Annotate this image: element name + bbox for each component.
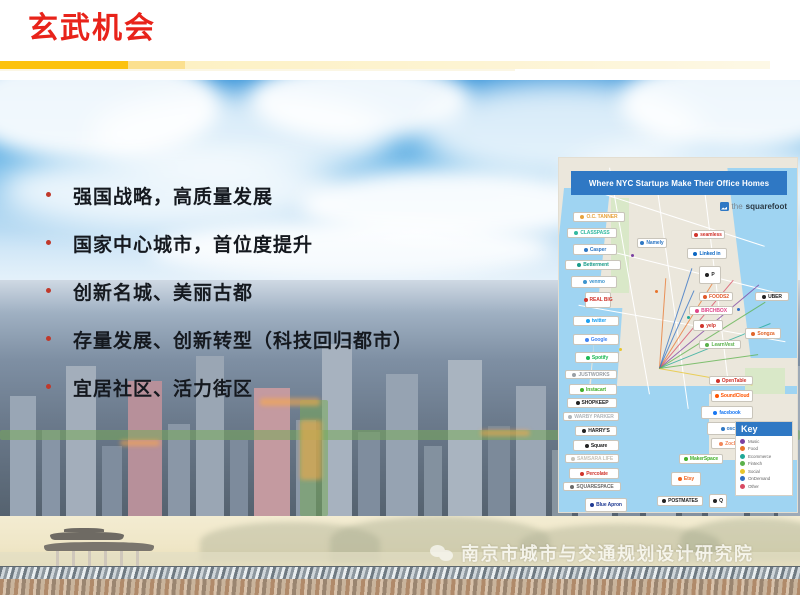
company-logo-label: REAL BIG [590, 297, 613, 303]
company-logo-pin[interactable]: SHOPKEEP [567, 398, 617, 408]
logo-color-swatch-icon [694, 233, 698, 237]
logo-color-swatch-icon [582, 429, 586, 433]
logo-color-swatch-icon [572, 373, 576, 377]
title-underline-bar [0, 61, 770, 69]
company-logo-pin[interactable]: REAL BIG [585, 292, 611, 308]
squarefoot-brand-logo: the squarefoot [720, 202, 787, 211]
list-item: 存量发展、创新转型（科技回归都市） [46, 330, 546, 354]
company-logo-pin[interactable]: Percolate [569, 468, 619, 479]
company-logo-pin[interactable]: UBER [755, 292, 789, 301]
company-logo-label: twitter [592, 318, 606, 324]
company-logo-pin[interactable]: Square [573, 440, 619, 451]
legend-item-label: Social [748, 469, 760, 474]
company-logo-label: SoundCloud [721, 393, 750, 399]
ground-band [0, 579, 800, 595]
company-logo-label: FOODS2 [709, 294, 729, 300]
logo-color-swatch-icon [684, 457, 688, 461]
logo-color-swatch-icon [574, 231, 578, 235]
legend-item: OnDemand [740, 476, 788, 481]
bullet-dot-icon [46, 384, 51, 389]
company-logo-pin[interactable]: Spotify [575, 352, 619, 363]
company-logo-label: Blue Apron [596, 502, 622, 508]
company-logo-label: O.C. TANNER [586, 214, 617, 220]
company-logo-label: Casper [590, 247, 606, 253]
company-logo-label: SHOPKEEP [582, 400, 609, 406]
logo-color-swatch-icon [584, 248, 588, 252]
bullet-dot-icon [46, 288, 51, 293]
company-logo-label: BIRCHBOX [701, 308, 727, 314]
company-logo-pin[interactable]: HARRY'S [575, 426, 617, 436]
company-logo-pin[interactable]: BIRCHBOX [689, 306, 733, 315]
infographic-banner: Where NYC Startups Make Their Office Hom… [571, 171, 787, 195]
company-logo-label: SQUARESPACE [576, 484, 613, 490]
wechat-icon [430, 544, 454, 562]
legend-item: Food [740, 446, 788, 451]
legend-dot-icon [740, 484, 745, 489]
company-logo-label: Namely [646, 240, 663, 246]
legend-dot-icon [740, 446, 745, 451]
logo-color-swatch-icon [678, 477, 682, 481]
list-item-label: 宜居社区、活力街区 [73, 378, 253, 402]
company-logo-pin[interactable]: MakerSpace [679, 454, 723, 464]
company-logo-pin[interactable]: Songza [745, 328, 781, 339]
company-logo-label: Google [591, 337, 608, 343]
company-logo-pin[interactable]: Linked in [687, 248, 727, 259]
company-logo-pin[interactable]: SQUARESPACE [563, 482, 621, 491]
map-legend-key: Key MusicFoodEcommerceFintechSocialOnDem… [735, 421, 793, 497]
logo-color-swatch-icon [585, 338, 589, 342]
company-logo-label: UBER [768, 294, 782, 300]
company-logo-label: facebook [719, 410, 740, 416]
company-logo-label: Betterment [583, 262, 608, 268]
list-item-label: 存量发展、创新转型（科技回归都市） [73, 330, 413, 354]
legend-item: Ecommerce [740, 454, 788, 459]
logo-color-swatch-icon [586, 319, 590, 323]
legend-dot-icon [740, 439, 745, 444]
company-logo-label: P [711, 272, 714, 278]
logo-color-swatch-icon [662, 499, 666, 503]
logo-color-swatch-icon [695, 309, 699, 313]
company-logo-pin[interactable]: P [699, 266, 721, 284]
company-logo-label: Square [591, 443, 607, 449]
company-logo-label: MakerSpace [690, 456, 718, 462]
company-logo-pin[interactable]: Etsy [671, 472, 701, 486]
company-logo-label: Etsy [684, 476, 694, 482]
legend-item-label: Food [748, 446, 758, 451]
logo-color-swatch-icon [705, 343, 709, 347]
company-logo-label: Instacart [586, 387, 606, 393]
list-item: 创新名城、美丽古都 [46, 282, 546, 306]
logo-color-swatch-icon [640, 241, 644, 245]
company-logo-pin[interactable]: Q [709, 494, 727, 508]
company-logo-pin[interactable]: Instacart [569, 384, 617, 395]
logo-color-swatch-icon [580, 388, 584, 392]
list-item-label: 创新名城、美丽古都 [73, 282, 253, 306]
logo-color-swatch-icon [721, 427, 725, 431]
watermark: 南京市城市与交通规划设计研究院 [430, 540, 754, 566]
nyc-startup-map-infographic[interactable]: Where NYC Startups Make Their Office Hom… [558, 157, 798, 513]
legend-item: Fintech [740, 461, 788, 466]
legend-item: Other [740, 484, 788, 489]
company-logo-pin[interactable]: venmo [571, 276, 617, 288]
brand-name: squarefoot [746, 202, 787, 211]
company-logo-pin[interactable]: CLASSPASS [567, 228, 617, 238]
watermark-label: 南京市城市与交通规划设计研究院 [461, 540, 754, 566]
logo-color-swatch-icon [583, 280, 587, 284]
company-logo-label: Q [719, 498, 723, 504]
logo-color-swatch-icon [584, 298, 588, 302]
legend-item: Social [740, 469, 788, 474]
company-logo-label: SAMSARA LIFE [577, 456, 613, 462]
company-logo-pin[interactable]: OpenTable [709, 376, 753, 385]
legend-dot-icon [740, 461, 745, 466]
logo-color-swatch-icon [751, 332, 755, 336]
infographic-banner-title: Where NYC Startups Make Their Office Hom… [589, 179, 769, 188]
legend-item-label: Other [748, 484, 759, 489]
company-logo-pin[interactable]: LearnVest [699, 340, 741, 349]
company-logo-pin[interactable]: POSTMATES [657, 496, 703, 506]
brand-prefix: the [732, 202, 743, 211]
logo-color-swatch-icon [762, 295, 766, 299]
squarefoot-mark-icon [720, 202, 729, 211]
logo-color-swatch-icon [570, 485, 574, 489]
logo-color-swatch-icon [713, 499, 717, 503]
company-logo-pin[interactable]: O.C. TANNER [573, 212, 625, 222]
company-logo-pin[interactable]: Betterment [565, 260, 621, 270]
logo-color-swatch-icon [713, 411, 717, 415]
legend-item-label: Ecommerce [748, 454, 771, 459]
bullet-list: 强国战略，高质量发展 国家中心城市，首位度提升 创新名城、美丽古都 存量发展、创… [46, 186, 546, 426]
legend-dot-icon [740, 476, 745, 481]
company-logo-pin[interactable]: SoundCloud [711, 390, 753, 402]
logo-color-swatch-icon [719, 442, 723, 446]
company-logo-label: HARRY'S [588, 428, 609, 434]
logo-color-swatch-icon [703, 295, 707, 299]
logo-color-swatch-icon [590, 503, 594, 507]
logo-color-swatch-icon [571, 457, 575, 461]
bullet-dot-icon [46, 336, 51, 341]
legend-item: Music [740, 439, 788, 444]
company-logo-label: CLASSPASS [580, 230, 609, 236]
list-item-label: 强国战略，高质量发展 [73, 186, 273, 210]
logo-color-swatch-icon [576, 401, 580, 405]
company-logo-pin[interactable]: Namely [637, 238, 667, 248]
company-logo-label: OpenTable [722, 378, 747, 384]
company-logo-pin[interactable]: Casper [573, 244, 617, 255]
logo-color-swatch-icon [568, 415, 572, 419]
company-logo-pin[interactable]: JUSTWORKS [565, 370, 617, 379]
company-logo-label: seamless [700, 232, 722, 238]
company-logo-pin[interactable]: seamless [691, 230, 725, 239]
list-item-label: 国家中心城市，首位度提升 [73, 234, 313, 258]
title-underline-bar-secondary [0, 69, 515, 71]
legend-item-label: OnDemand [748, 476, 770, 481]
company-logo-label: WARBY PARKER [574, 414, 613, 420]
logo-color-swatch-icon [580, 472, 584, 476]
company-logo-label: Songza [757, 331, 774, 337]
list-item: 国家中心城市，首位度提升 [46, 234, 546, 258]
company-logo-label: yelp [706, 323, 716, 329]
company-logo-label: Spotify [592, 355, 608, 361]
company-logo-label: POSTMATES [668, 498, 698, 504]
legend-item-label: Fintech [748, 461, 762, 466]
logo-color-swatch-icon [586, 356, 590, 360]
logo-color-swatch-icon [585, 444, 589, 448]
page-title: 玄武机会 [28, 8, 156, 50]
company-logo-label: JUSTWORKS [578, 372, 609, 378]
company-logo-label: Percolate [586, 471, 608, 477]
logo-color-swatch-icon [693, 252, 697, 256]
list-item: 强国战略，高质量发展 [46, 186, 546, 210]
logo-color-swatch-icon [715, 394, 719, 398]
legend-dot-icon [740, 454, 745, 459]
legend-dot-icon [740, 469, 745, 474]
company-logo-pin[interactable]: Google [573, 334, 619, 345]
legend-title: Key [736, 422, 792, 436]
list-item: 宜居社区、活力街区 [46, 378, 546, 402]
company-logo-pin[interactable]: FOODS2 [699, 292, 733, 301]
company-logo-label: venmo [589, 279, 605, 285]
slide-root: 玄武机会 [0, 0, 800, 595]
company-logo-label: Linked in [699, 251, 720, 257]
company-logo-pin[interactable]: WARBY PARKER [563, 412, 619, 421]
bullet-dot-icon [46, 240, 51, 245]
company-logo-pin[interactable]: facebook [701, 406, 753, 419]
logo-color-swatch-icon [577, 263, 581, 267]
logo-color-swatch-icon [700, 324, 704, 328]
company-logo-label: LearnVest [711, 342, 734, 348]
company-logo-pin[interactable]: yelp [693, 320, 723, 331]
logo-color-swatch-icon [705, 273, 709, 277]
company-logo-pin[interactable]: twitter [573, 316, 619, 326]
company-logo-pin[interactable]: SAMSARA LIFE [565, 454, 619, 463]
logo-color-swatch-icon [716, 379, 720, 383]
legend-item-label: Music [748, 439, 759, 444]
company-logo-pin[interactable]: Blue Apron [585, 498, 627, 512]
logo-color-swatch-icon [580, 215, 584, 219]
bullet-dot-icon [46, 192, 51, 197]
legend-items: MusicFoodEcommerceFintechSocialOnDemandO… [736, 436, 792, 496]
